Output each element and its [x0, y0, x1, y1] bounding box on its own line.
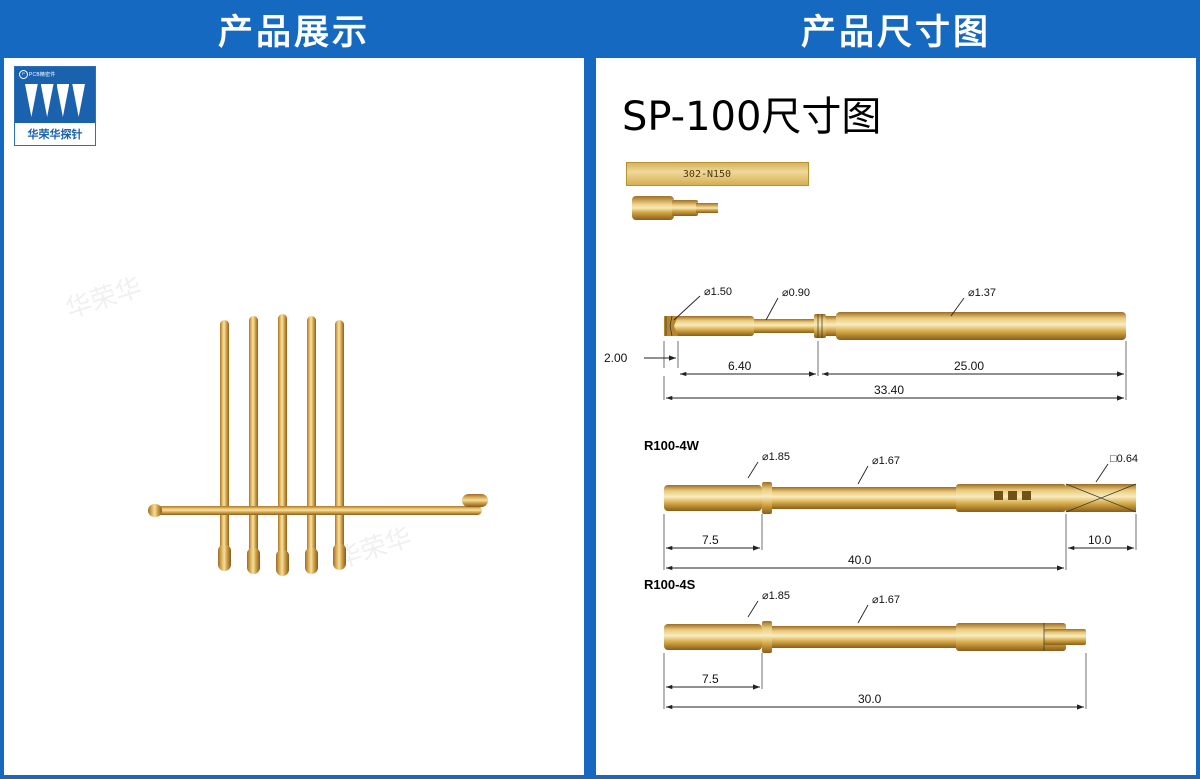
d2-dim-40-0: 40.0	[848, 553, 872, 567]
d1-leader-2	[766, 298, 778, 320]
d1-barrel	[836, 312, 1126, 340]
probe-tip-2	[247, 548, 260, 574]
probe-pin-5	[335, 320, 344, 554]
logo-teeth-icon	[25, 84, 85, 117]
dimension-drawing-panel: 产品尺寸图 SP-100尺寸图 302-N150	[592, 0, 1200, 779]
d1-dia-label-1: ⌀1.50	[704, 286, 732, 298]
d2-part-name: R100-4W	[644, 438, 700, 453]
d3-head	[664, 624, 762, 650]
d3-tail	[1044, 629, 1086, 645]
probe-tip-1	[218, 545, 231, 571]
product-photo: 华荣华 华荣华	[4, 58, 584, 775]
left-panel-header: 产品展示	[0, 0, 588, 58]
drawing-2: R100-4W ⌀1.85 ⌀1.67 □0.64	[644, 438, 1138, 570]
d3-shaft	[772, 626, 956, 648]
product-photo-panel: 产品展示 华荣华 华荣华	[0, 0, 588, 779]
probe-pin-2	[249, 316, 258, 556]
left-panel-card: 华荣华 华荣华 PP	[4, 58, 584, 775]
left-panel-title: 产品展示	[218, 4, 370, 55]
right-panel-card: SP-100尺寸图 302-N150	[596, 58, 1196, 775]
logo-tooth	[72, 84, 85, 117]
logo-tooth	[25, 84, 38, 117]
d3-dim-30-0: 30.0	[858, 692, 882, 706]
d1-dim-25-00: 25.00	[954, 359, 984, 373]
d2-window	[1008, 491, 1017, 500]
company-logo: PPCB精密件 华荣华探针	[14, 66, 96, 146]
d1-dim-33-40: 33.40	[874, 383, 904, 397]
probe-head-horizontal	[462, 494, 488, 507]
probe-tip-horizontal	[148, 504, 162, 517]
d2-dia-label-1: ⌀1.85	[762, 451, 790, 463]
d2-dia-label-3: □0.64	[1110, 453, 1138, 465]
d1-dim-2-00: 2.00	[604, 351, 628, 365]
d2-dia-label-2: ⌀1.67	[872, 455, 900, 467]
dimension-drawings-svg: ⌀1.50 ⌀0.90 ⌀1.37 2.00 6.40	[596, 58, 1196, 775]
d1-mid-shaft	[754, 319, 814, 333]
d1-dim-6-40: 6.40	[728, 359, 752, 373]
d2-head	[664, 485, 762, 511]
logo-tooth	[41, 84, 54, 117]
d2-shaft	[772, 487, 956, 509]
d1-dia-label-3: ⌀1.37	[968, 287, 996, 299]
page-root: 产品展示 华荣华 华荣华	[0, 0, 1200, 779]
logo-badge-label: PCB精密件	[29, 72, 55, 78]
logo-badge-circle: P	[19, 70, 28, 79]
right-panel-title: 产品尺寸图	[801, 4, 991, 55]
watermark-1: 华荣华	[60, 267, 146, 326]
d3-leader-2	[858, 605, 868, 623]
d2-dim-7-5: 7.5	[702, 533, 719, 547]
d3-leader-1	[748, 601, 758, 617]
drawing-3: R100-4S ⌀1.85 ⌀1.67 7.5	[644, 577, 1086, 709]
d1-head-section	[664, 316, 754, 336]
d3-dia-label-1: ⌀1.85	[762, 590, 790, 602]
logo-tooth	[57, 84, 70, 117]
probe-pin-1	[220, 320, 229, 555]
d2-dim-10-0: 10.0	[1088, 533, 1112, 547]
logo-company-name: 华荣华探针	[15, 123, 95, 145]
probe-tip-4	[305, 548, 318, 574]
d2-collar	[762, 482, 772, 514]
logo-mark: PPCB精密件	[15, 67, 95, 123]
logo-badge-text: PPCB精密件	[19, 70, 55, 79]
d1-step	[826, 316, 836, 336]
probe-tip-5	[333, 544, 346, 570]
d2-leader-2	[858, 466, 868, 484]
d1-dia-label-2: ⌀0.90	[782, 287, 810, 299]
drawing-1: ⌀1.50 ⌀0.90 ⌀1.37 2.00 6.40	[604, 286, 1126, 400]
d2-leader-3	[1096, 464, 1108, 482]
probe-pin-4	[307, 316, 316, 556]
d2-leader-1	[748, 462, 758, 478]
d3-dia-label-2: ⌀1.67	[872, 594, 900, 606]
d2-window	[1022, 491, 1031, 500]
right-panel-header: 产品尺寸图	[592, 0, 1200, 58]
probe-pin-horizontal	[152, 506, 482, 515]
probe-tip-3	[276, 550, 289, 576]
d3-part-name: R100-4S	[644, 577, 696, 592]
d3-dim-7-5: 7.5	[702, 672, 719, 686]
d1-collar	[814, 314, 826, 338]
d3-collar	[762, 621, 772, 653]
d2-window	[994, 491, 1003, 500]
probe-pin-3	[278, 314, 287, 558]
